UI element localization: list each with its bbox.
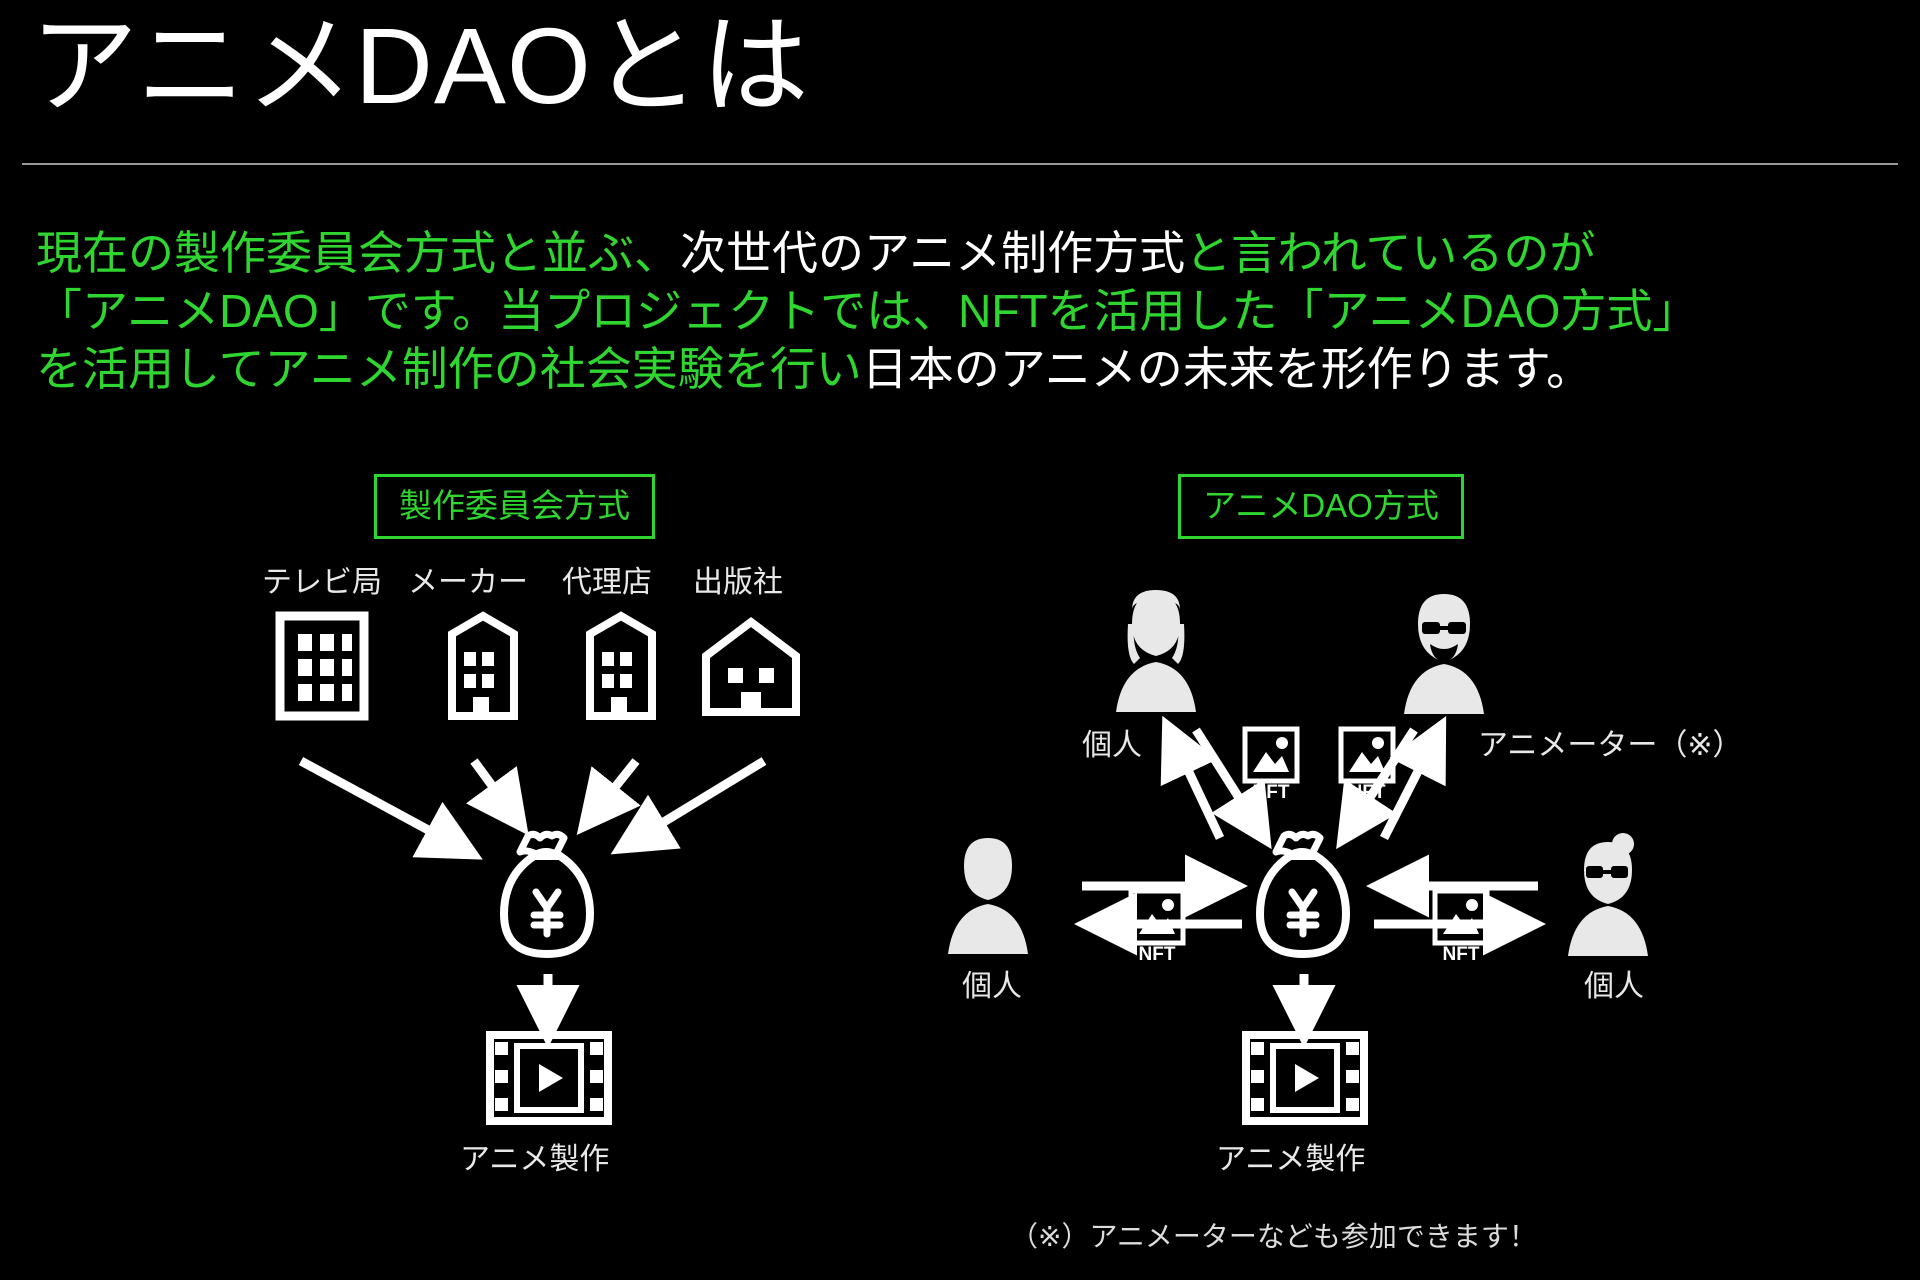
lead-paragraph: 現在の製作委員会方式と並ぶ、次世代のアニメ制作方式と言われているのが 「アニメD… [36, 225, 1836, 399]
label-anime-production-right: アニメ製作 [1216, 1145, 1365, 1175]
label-kojin-top-left: 個人 [1082, 731, 1142, 761]
publisher-house-icon [700, 616, 802, 718]
title-divider [22, 163, 1898, 165]
arrow-publisher-to-fund [612, 755, 772, 865]
label-tv-station: テレビ局 [262, 568, 382, 598]
arrow-tv-to-fund [295, 755, 495, 865]
lead-line1-green-b: と言われているのが [1185, 227, 1595, 279]
svg-text:NFT: NFT [1349, 782, 1386, 803]
label-publisher: 出版社 [693, 568, 783, 598]
lead-line-3: を活用してアニメ制作の社会実験を行い日本のアニメの未来を形作ります。 [36, 341, 1836, 399]
label-agency: 代理店 [562, 568, 652, 598]
badge-anime-dao: アニメDAO方式 [1178, 474, 1464, 539]
lead-line3-white: 日本のアニメの未来を形作ります。 [862, 343, 1592, 395]
label-kojin-right: 個人 [1584, 972, 1644, 1002]
svg-text:NFT: NFT [1253, 782, 1290, 803]
slide-root: アニメDAOとは 現在の製作委員会方式と並ぶ、次世代のアニメ制作方式と言われてい… [0, 0, 1920, 1280]
label-anime-production-left: アニメ製作 [460, 1145, 609, 1175]
money-bag-yen-icon-left [492, 830, 602, 958]
maker-building-icon [440, 612, 526, 720]
svg-text:NFT: NFT [1139, 944, 1176, 965]
person-bun-glasses-icon [1560, 832, 1656, 960]
arrow-maker-to-fund [468, 755, 538, 840]
nft-badge-top-left: NFT [1242, 726, 1300, 802]
footnote-text: （※）アニメーターなども参加できます！ [1010, 1215, 1537, 1255]
person-long-hair-icon [1108, 586, 1204, 722]
nft-badge-top-right: NFT [1338, 726, 1396, 802]
money-bag-yen-icon-right [1248, 830, 1358, 958]
lead-line1-green-a: 現在の製作委員会方式と並ぶ、 [36, 227, 680, 279]
film-play-icon-left [487, 1032, 611, 1124]
film-play-icon-right [1243, 1032, 1367, 1124]
tv-station-building-icon [276, 612, 368, 720]
label-animator: アニメーター（※） [1478, 731, 1743, 761]
person-short-hair-icon [940, 832, 1036, 960]
agency-building-icon [578, 612, 664, 720]
lead-line1-white: 次世代のアニメ制作方式 [680, 227, 1185, 279]
lead-line-1: 現在の製作委員会方式と並ぶ、次世代のアニメ制作方式と言われているのが [36, 225, 1836, 283]
lead-line2-green: 「アニメDAO」です。当プロジェクトでは、NFTを活用した「アニメDAO方式」 [36, 285, 1698, 337]
badge-seisaku-iinkai: 製作委員会方式 [374, 474, 655, 539]
nft-badge-right: NFT [1432, 888, 1490, 964]
svg-text:NFT: NFT [1443, 944, 1480, 965]
label-maker: メーカー [408, 568, 528, 598]
label-kojin-left: 個人 [962, 972, 1022, 1002]
page-title: アニメDAOとは [30, 2, 810, 129]
lead-line3-green: を活用してアニメ制作の社会実験を行い [36, 343, 862, 395]
lead-line-2: 「アニメDAO」です。当プロジェクトでは、NFTを活用した「アニメDAO方式」 [36, 283, 1836, 341]
nft-badge-left: NFT [1128, 888, 1186, 964]
person-glasses-beard-icon [1396, 586, 1492, 722]
